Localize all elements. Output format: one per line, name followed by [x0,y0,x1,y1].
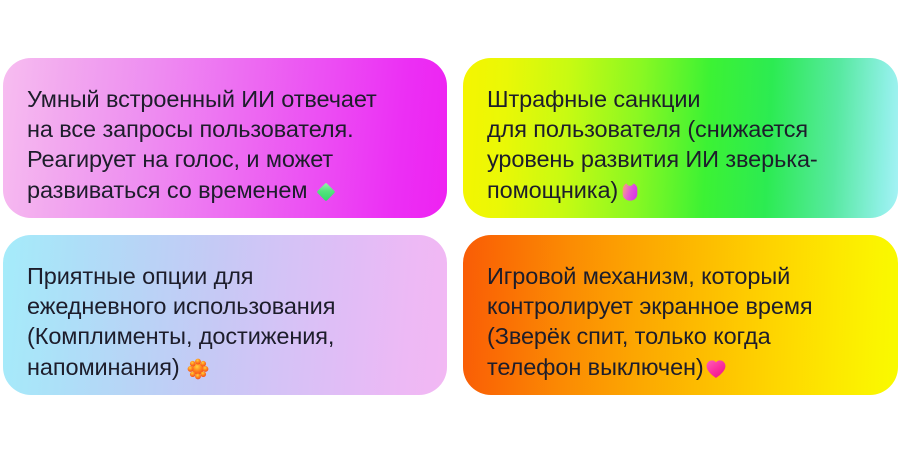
card-penalties-text: Штрафные санкции для пользователя (снижа… [487,84,818,205]
pink-heart-emoji [704,357,728,381]
feature-cards-board: Умный встроенный ИИ отвечает на все запр… [0,0,900,460]
card-penalties[interactable]: Штрафные санкции для пользователя (снижа… [463,58,898,218]
card-daily-options[interactable]: Приятные опции для ежедневного использов… [3,235,447,395]
card-ai-assistant[interactable]: Умный встроенный ИИ отвечает на все запр… [3,58,447,218]
card-penalties-body: Штрафные санкции для пользователя (снижа… [487,86,818,203]
card-game-mechanic-text: Игровой механизм, который контролирует э… [487,261,813,382]
cards-grid: Умный встроенный ИИ отвечает на все запр… [3,58,898,395]
card-game-mechanic[interactable]: Игровой механизм, который контролирует э… [463,235,898,395]
green-diamond-emoji [314,180,338,204]
card-game-mechanic-body: Игровой механизм, который контролирует э… [487,263,813,380]
tulip-emoji [618,180,642,204]
blossom-emoji [186,357,210,381]
card-daily-options-text: Приятные опции для ежедневного использов… [27,261,335,382]
card-ai-assistant-text: Умный встроенный ИИ отвечает на все запр… [27,84,377,205]
card-daily-options-body: Приятные опции для ежедневного использов… [27,263,335,380]
